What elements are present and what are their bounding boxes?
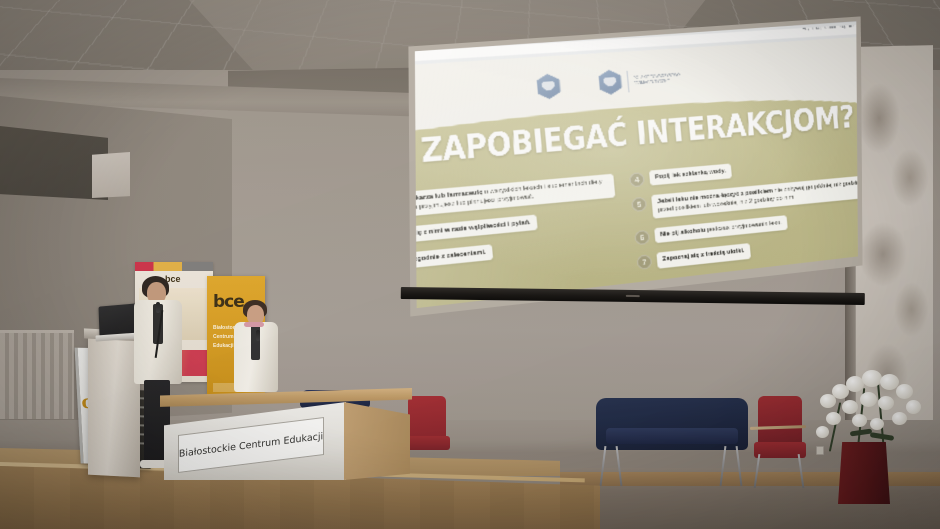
projected-browser-window: Jak zapobiegać interakcjom Edytuj na poz… (401, 16, 863, 319)
orchid-planter (838, 442, 890, 504)
orchid-flower (896, 384, 913, 399)
logo-unit-right: POLSKIE TOWARZYSTWO FARMACEUTYCZNE (598, 65, 686, 95)
bullet-lead: Skonsultuj się z nimi w razie wątpliwośc… (401, 220, 531, 241)
bullet-text: Nie pij alkoholu podczas przyjmowania le… (654, 216, 788, 244)
orchid-flower (842, 400, 858, 414)
presenter-person-2 (232, 300, 282, 396)
red-chair-back (408, 396, 446, 440)
orchid-leaf (850, 428, 872, 436)
person-2-scarf (244, 322, 264, 327)
orchid-flower (862, 370, 882, 387)
handheld-microphone-2 (256, 330, 260, 341)
conference-room-photo: Jak zapobiegać interakcjom Edytuj na poz… (0, 0, 940, 529)
bullet-number: 4 (629, 172, 645, 187)
graduation-hex-logo-icon (536, 73, 561, 100)
navy-bench (596, 398, 748, 488)
left-wall-light-box (92, 152, 130, 198)
bullet-lead: Popij lek szklanką wody. (655, 168, 726, 181)
chair-leg (754, 454, 761, 488)
bullet-rest: podczas przyjmowania leku. (707, 220, 782, 234)
venue-name-text: Białostockie Centrum Edukacji (179, 431, 323, 460)
left-wall-dark-panel (0, 126, 108, 200)
red-armchair-back (758, 396, 802, 448)
bullet-number: 7 (637, 255, 653, 270)
bench-leg (736, 446, 743, 486)
bench-leg (720, 446, 727, 486)
bullet-number: 5 (631, 197, 647, 212)
red-armchair (752, 396, 808, 488)
projected-image-area: Jak zapobiegać interakcjom Edytuj na poz… (401, 16, 863, 319)
logo-divider (626, 70, 629, 92)
bench-leg (600, 446, 607, 486)
table-top-surface (160, 388, 412, 410)
handheld-microphone (156, 302, 160, 313)
presentation-table: Białostockie Centrum Edukacji (160, 388, 412, 484)
pharmacy-hex-logo-icon (598, 69, 623, 95)
logo-right-caption: POLSKIE TOWARZYSTWO FARMACEUTYCZNE (633, 72, 685, 85)
bullet-lead: Nie pij alkoholu (660, 228, 706, 239)
radiator (0, 330, 74, 422)
bullet-number: 6 (634, 230, 650, 245)
orchid-flower (906, 400, 921, 414)
orchid-flower (826, 412, 841, 425)
orchid-flower (878, 396, 894, 410)
orchid-flower (892, 412, 907, 425)
presentation-slide: POLSKIE TOWARZYSTWO FARMACEUTYCZNE JAK Z… (401, 36, 863, 320)
orchid-flower (860, 392, 877, 407)
orchid-flower (870, 418, 884, 430)
table-side-panel (344, 402, 410, 480)
logo-unit-left (536, 73, 561, 100)
orchid-flower (852, 414, 867, 427)
navy-bench-seat (606, 428, 738, 444)
orchid-flower (816, 426, 829, 438)
bench-leg (616, 446, 623, 486)
orchid-stalk (829, 402, 841, 451)
orchid-stalk (877, 384, 885, 450)
poster-color-bar (135, 262, 213, 271)
chair-leg (798, 454, 805, 488)
orchid-arrangement (806, 368, 936, 508)
projection-screen: Jak zapobiegać interakcjom Edytuj na poz… (401, 16, 863, 349)
